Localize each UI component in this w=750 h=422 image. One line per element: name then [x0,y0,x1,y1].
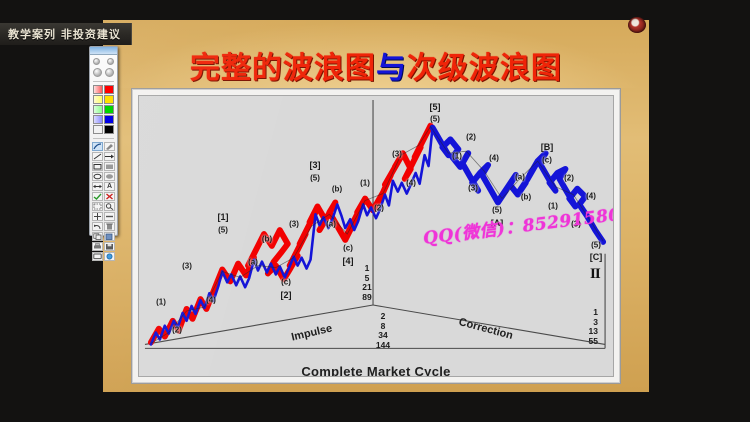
fib-cycle-column: 2 8 34 144 [376,312,390,350]
eraser-tool-icon[interactable] [104,212,115,221]
wave-label: (2) [564,174,574,183]
fib-value: 89 [362,293,371,303]
cycle-label: Complete Market Cycle [301,364,450,377]
swatch-blue[interactable] [104,115,114,124]
wave-label: (2) [374,204,384,213]
swatch-row [93,85,114,94]
swatch-green[interactable] [104,105,114,114]
wave-degree-label: [3] [310,160,321,170]
impulse-subwave [151,128,433,345]
fib-value: 55 [589,337,598,347]
elliott-wave-chart: (1) (2) (3) (4) (5) [1] (a) (b) (c) [2] … [138,95,614,377]
filled-rect-tool-icon[interactable] [104,162,115,171]
check-tool-icon[interactable] [92,192,103,201]
swatch-yellow-light[interactable] [93,95,103,104]
wave-label: (5) [218,226,228,235]
wave-label: (c) [343,244,353,253]
pen-size-xlarge-icon[interactable] [105,68,114,77]
double-arrow-tool-icon[interactable] [92,182,103,191]
undo-tool-icon[interactable] [92,222,103,231]
swatch-white[interactable] [93,125,103,134]
swatch-row [93,115,114,124]
fib-correction-column: 1 3 13 55 [589,308,598,346]
chart-panel: (1) (2) (3) (4) (5) [1] (a) (b) (c) [2] … [131,88,621,384]
wave-label: (5) [430,115,440,124]
screen-tool-icon[interactable] [92,252,103,261]
settings-tool-icon[interactable] [104,252,115,261]
wave-degree-label: [5] [430,102,441,112]
swatch-black[interactable] [104,125,114,134]
delete-tool-icon[interactable] [104,222,115,231]
swatch-row [93,105,114,114]
recording-indicator-icon [628,17,646,33]
wave-label: (3) [289,220,299,229]
pen-size-medium-icon[interactable] [107,58,114,65]
swatch-row [93,125,114,134]
wave-label: (5) [310,174,320,183]
print-tool-icon[interactable] [92,242,103,251]
toolbar-dots-row-2 [92,67,115,79]
toolbar-divider [93,81,114,82]
wave-label: (4) [406,179,416,188]
wave-label: (a) [326,220,336,229]
wave-label: (c) [281,278,291,287]
wave-label: (5) [492,206,502,215]
toolbar-dots-row [92,57,115,67]
swatch-blue-light[interactable] [93,115,103,124]
title-part-2: 次级波浪图 [407,51,562,86]
wave-degree-label: [2] [281,290,292,300]
wave-label: (3) [182,262,192,271]
swatch-red[interactable] [104,85,114,94]
wave-label: (a) [248,258,258,267]
disclaimer-badge: 教学案列 非投资建议 [0,23,132,45]
wave-label: (2) [172,326,182,335]
slide-title: 完整的波浪图与次级波浪图 [103,54,649,84]
pen-tool-icon[interactable] [92,142,103,151]
wave-label: (2) [466,133,476,142]
rectangle-tool-icon[interactable] [92,162,103,171]
wave-label: (3) [468,184,478,193]
wave-label: (b) [521,193,531,202]
wave-label: (b) [262,235,272,244]
wave-label: (b) [332,185,342,194]
title-part-1: 完整的波浪图 [190,51,376,86]
swatch-green-light[interactable] [93,105,103,114]
pen-size-small-icon[interactable] [93,58,100,65]
toolbar-titlebar[interactable] [90,47,117,55]
select-tool-icon[interactable] [92,202,103,211]
tool-grid: A [92,141,115,263]
cross-tool-icon[interactable] [104,192,115,201]
pen-size-large-icon[interactable] [93,68,102,77]
degree-marker-label: II [590,266,600,283]
color-palette [92,84,115,136]
wave-label: (4) [586,192,596,201]
title-connector: 与 [376,51,407,86]
fib-value: 144 [376,341,390,351]
presentation-slide: 完整的波浪图与次级波浪图 [103,20,649,392]
wave-label: (4) [206,296,216,305]
copy-tool-icon[interactable] [92,232,103,241]
swatch-yellow[interactable] [104,95,114,104]
save-tool-icon[interactable] [104,242,115,251]
highlighter-tool-icon[interactable] [104,142,115,151]
wave-label: (3) [392,150,402,159]
annotation-toolbar[interactable]: A [89,46,118,236]
wave-degree-label: [C] [590,252,603,262]
wave-degree-label: [1] [218,212,229,222]
filled-ellipse-tool-icon[interactable] [104,172,115,181]
text-tool-icon[interactable]: A [104,182,115,191]
wave-degree-label: [B] [541,142,554,152]
wave-label: (1) [452,152,462,161]
wave-degree-label: [4] [343,256,354,266]
arrow-tool-icon[interactable] [104,152,115,161]
wave-label: (a) [515,173,525,182]
wave-label: (4) [489,154,499,163]
wave-label: (1) [360,179,370,188]
ellipse-tool-icon[interactable] [92,172,103,181]
fib-impulse-column: 1 5 21 89 [362,264,371,302]
swatch-red-light[interactable] [93,85,103,94]
move-tool-icon[interactable] [92,212,103,221]
magnifier-tool-icon[interactable] [104,202,115,211]
wave-label: (5) [591,241,601,250]
wave-label: (1) [156,298,166,307]
line-tool-icon[interactable] [92,152,103,161]
paste-tool-icon[interactable] [104,232,115,241]
swatch-row [93,95,114,104]
wave-label: (c) [542,156,552,165]
toolbar-divider-2 [93,138,114,139]
